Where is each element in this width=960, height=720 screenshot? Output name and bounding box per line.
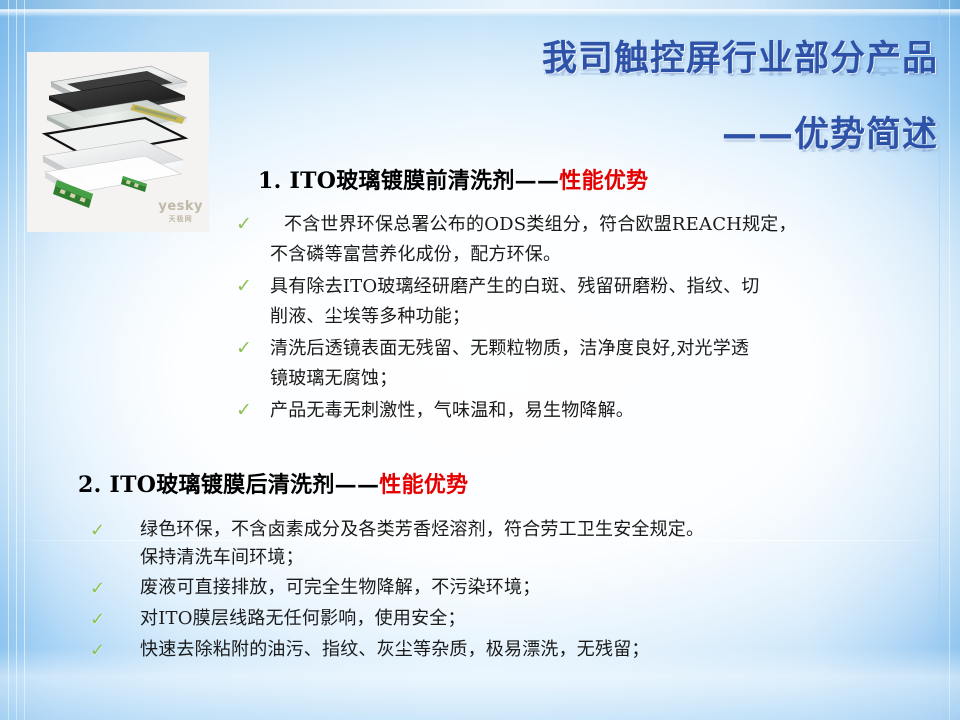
section-1-heading-accent: 性能优势: [559, 168, 648, 194]
list-item-text: 对ITO膜层线路无任何影响，使用安全；: [140, 605, 466, 633]
decorative-edge-line-right-1: [949, 0, 950, 720]
list-item: ✓ 清洗后透镜表面无残留、无颗粒物质，洁净度良好,对光学透 镜玻璃无腐蚀；: [236, 334, 936, 394]
list-item-text: 产品无毒无刺激性，气味温和，易生物降解。: [270, 396, 634, 426]
check-icon: ✓: [236, 396, 270, 425]
section-1-bullet-list: ✓ 不含世界环保总署公布的ODS类组分，符合欧盟REACH规定， 不含磷等富营养…: [236, 210, 936, 428]
list-item: ✓ 不含世界环保总署公布的ODS类组分，符合欧盟REACH规定， 不含磷等富营养…: [236, 210, 936, 270]
list-item: ✓ 对ITO膜层线路无任何影响，使用安全；: [90, 605, 880, 634]
decorative-edge-line-left-1: [8, 0, 9, 720]
page-title-reflection: 我司触控屏行业部分产品: [542, 55, 938, 76]
list-item-text: 具有除去ITO玻璃经研磨产生的白斑、残留研磨粉、指纹、切 削液、尘埃等多种功能；: [270, 272, 759, 332]
slide-top-banner-shine: [0, 10, 960, 17]
section-1-heading: 1. ITO玻璃镀膜前清洗剂——性能优势: [258, 163, 648, 195]
list-item-text: 快速去除粘附的油污、指纹、灰尘等杂质，极易漂洗，无残留；: [140, 636, 650, 664]
check-icon: ✓: [236, 272, 270, 301]
photo-watermark: yesky 天极网: [158, 199, 203, 224]
decorative-edge-line-left-3: [24, 0, 25, 720]
list-item: ✓ 快速去除粘附的油污、指纹、灰尘等杂质，极易漂洗，无残留；: [90, 636, 880, 665]
check-icon: ✓: [236, 210, 270, 239]
photo-watermark-subtext: 天极网: [158, 214, 203, 224]
check-icon: ✓: [90, 605, 140, 634]
section-1-heading-main: 1. ITO玻璃镀膜前清洗剂——: [258, 168, 559, 194]
section-2-heading-main: 2. ITO玻璃镀膜后清洗剂——: [78, 472, 379, 498]
presentation-slide: yesky 天极网 我司触控屏行业部分产品 我司触控屏行业部分产品 ——优势简述…: [0, 0, 960, 720]
list-item: ✓ 废液可直接排放，可完全生物降解，不污染环境；: [90, 574, 880, 603]
decorative-edge-line-right-2: [939, 0, 940, 720]
section-2-heading: 2. ITO玻璃镀膜后清洗剂——性能优势: [78, 467, 468, 499]
list-item: ✓ 具有除去ITO玻璃经研磨产生的白斑、残留研磨粉、指纹、切 削液、尘埃等多种功…: [236, 272, 936, 332]
list-item-text: 废液可直接排放，可完全生物降解，不污染环境；: [140, 574, 540, 602]
check-icon: ✓: [90, 516, 140, 545]
list-item-text: 绿色环保，不含卤素成分及各类芳香烃溶剂，符合劳工卫生安全规定。 保持清洗车间环境…: [140, 516, 704, 572]
section-2-heading-accent: 性能优势: [379, 472, 468, 498]
photo-watermark-text: yesky: [158, 199, 203, 214]
slide-top-banner-bar: [0, 0, 960, 10]
list-item: ✓ 绿色环保，不含卤素成分及各类芳香烃溶剂，符合劳工卫生安全规定。 保持清洗车间…: [90, 516, 880, 572]
decorative-edge-line-left-2: [16, 0, 17, 720]
list-item-text: 清洗后透镜表面无残留、无颗粒物质，洁净度良好,对光学透 镜玻璃无腐蚀；: [270, 334, 749, 394]
list-item-text: 不含世界环保总署公布的ODS类组分，符合欧盟REACH规定， 不含磷等富营养化成…: [270, 210, 797, 270]
section-2-bullet-list: ✓ 绿色环保，不含卤素成分及各类芳香烃溶剂，符合劳工卫生安全规定。 保持清洗车间…: [90, 516, 880, 667]
product-photo-exploded-touchscreen: yesky 天极网: [27, 52, 209, 232]
list-item: ✓ 产品无毒无刺激性，气味温和，易生物降解。: [236, 396, 936, 426]
check-icon: ✓: [90, 574, 140, 603]
check-icon: ✓: [90, 636, 140, 665]
page-subtitle-reflection: ——优势简述: [542, 131, 938, 152]
check-icon: ✓: [236, 334, 270, 363]
